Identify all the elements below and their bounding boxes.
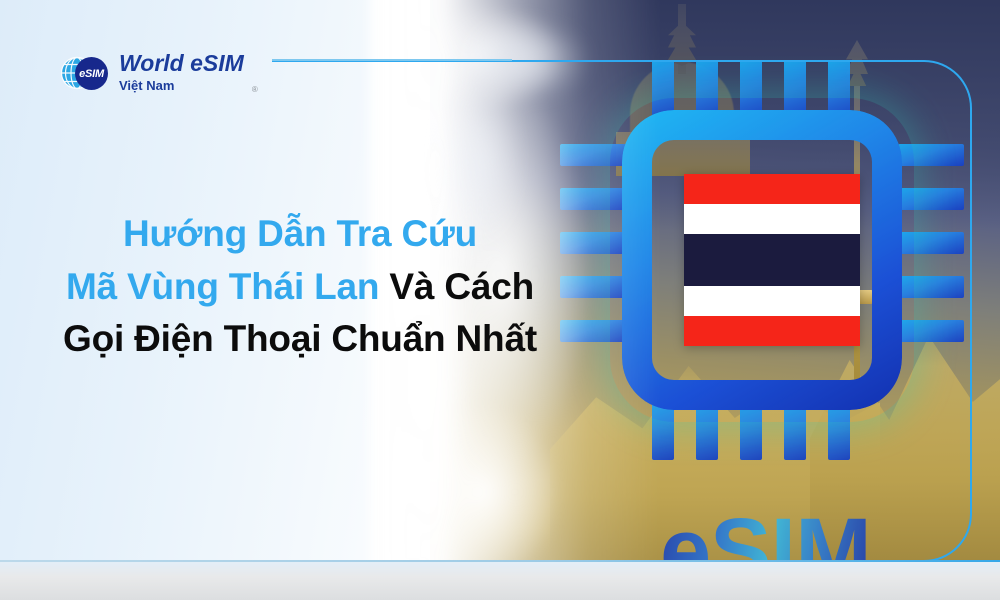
decorative-frame-top-stub [272, 59, 512, 61]
bottom-band [0, 562, 1000, 600]
headline-line-2-rest: Và Cách [379, 266, 534, 307]
thailand-flag [684, 174, 860, 346]
brand-logo[interactable]: eSIM World eSIM Việt Nam ® [58, 52, 244, 95]
headline-highlight: Mã Vùng Thái Lan [66, 266, 379, 307]
esim-chip-icon [560, 60, 960, 500]
esim-badge: eSIM [75, 57, 108, 90]
globe-icon: eSIM [58, 53, 98, 93]
logo-subtitle: Việt Nam [119, 78, 244, 95]
esim-badge-label: eSIM [79, 68, 104, 80]
page-title: Hướng Dẫn Tra Cứu Mã Vùng Thái Lan Và Cá… [0, 208, 600, 366]
logo-title: World eSIM [119, 52, 244, 75]
promo-banner: eSIM eSIM World eSIM [0, 0, 1000, 600]
headline-line-1: Hướng Dẫn Tra Cứu [0, 208, 600, 261]
headline-line-2: Mã Vùng Thái Lan Và Cách [0, 261, 600, 314]
registered-mark: ® [252, 85, 258, 94]
headline-line-3: Gọi Điện Thoại Chuẩn Nhất [0, 313, 600, 366]
